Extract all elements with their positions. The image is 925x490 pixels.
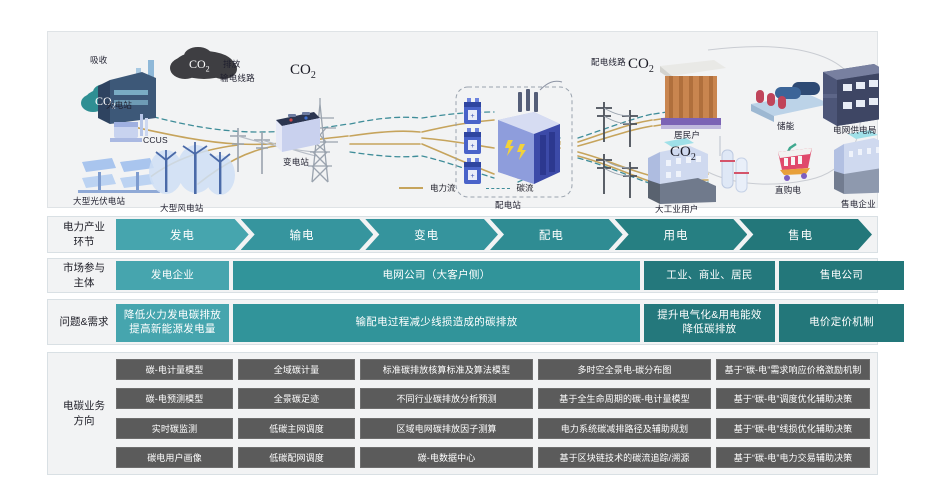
battery-units-icon: + + + — [464, 98, 481, 184]
grid-supply-bureau-label: 电网供电局 — [833, 124, 877, 136]
market-segment-label: 工业、商业、居民 — [666, 269, 752, 283]
problems-demands-row: 问题&需求 降低火力发电碳排放 提高新能源发电量输配电过程减少线损造成的碳排放提… — [47, 299, 878, 345]
business-cell-r4-c3[interactable]: 碳-电数据中心 — [360, 447, 533, 468]
stage-chevron-5[interactable]: 用电 — [615, 219, 748, 250]
energy-storage-label: 储能 — [777, 120, 794, 132]
residential-user-label: 居民户 — [674, 129, 700, 141]
problem-segment-label: 提升电气化&用电能效 降低碳排放 — [657, 309, 762, 336]
svg-text:+: + — [470, 143, 474, 150]
svg-text:+: + — [470, 113, 474, 120]
large-wind-plant-label: 大型风电站 — [160, 202, 204, 214]
business-cell-r2-c2[interactable]: 全景碳足迹 — [238, 388, 355, 409]
legend-carbon-flow-label: 碳流 — [517, 182, 534, 194]
co2-substation-text: CO2 — [290, 62, 316, 81]
problems-demands-label: 问题&需求 — [48, 315, 116, 329]
market-segment-1[interactable]: 发电企业 — [116, 261, 229, 290]
business-cell-r3-c5[interactable]: 基于“碳-电”线损优化辅助决策 — [716, 418, 870, 439]
business-cell-r2-c4[interactable]: 基于全生命周期的碳-电计量模型 — [538, 388, 711, 409]
substation-label: 变电站 — [283, 156, 309, 168]
business-cell-r4-c1[interactable]: 碳电用户画像 — [116, 447, 233, 468]
market-segment-label: 售电公司 — [820, 269, 863, 283]
test-tubes-icon — [720, 150, 749, 192]
business-cell-r4-c4[interactable]: 基于区块链技术的碳流追踪/溯源 — [538, 447, 711, 468]
residential-building-icon — [660, 60, 726, 129]
business-cell-r3-c3[interactable]: 区域电网碳排放因子测算 — [360, 418, 533, 439]
stage-chevron-1[interactable]: 发电 — [116, 219, 249, 250]
stage-chevron-label: 配电 — [539, 227, 564, 243]
stage-chevron-label: 用电 — [663, 227, 688, 243]
market-segment-label: 电网公司（大客户侧） — [383, 269, 491, 283]
diagram-legend: 电力流 碳流 — [399, 182, 534, 194]
co2-industrial-text: CO2 — [670, 144, 696, 163]
business-cell-r1-c1[interactable]: 碳-电计量模型 — [116, 359, 233, 380]
thermal-plant-label: 火电站 — [106, 99, 132, 111]
business-cell-r2-c1[interactable]: 碳-电预测模型 — [116, 388, 233, 409]
stage-chevron-label: 售电 — [788, 227, 813, 243]
business-matrix-row: 实时碳监测低碳主网调度区域电网碳排放因子测算电力系统碳减排路径及辅助规划基于“碳… — [116, 418, 870, 439]
substation-icon — [276, 112, 320, 152]
stage-chevron-3[interactable]: 变电 — [365, 219, 498, 250]
business-cell-r1-c5[interactable]: 基于“碳-电”需求响应价格激励机制 — [716, 359, 870, 380]
page-root: + + + — [0, 0, 925, 490]
market-segment-4[interactable]: 售电公司 — [779, 261, 904, 290]
stage-chevron-6[interactable]: 售电 — [739, 219, 872, 250]
industrial-user-label: 大工业用户 — [655, 203, 699, 215]
business-cell-r2-c3[interactable]: 不同行业碳排放分析预测 — [360, 388, 533, 409]
stage-chevron-label: 变电 — [414, 227, 439, 243]
business-cell-r3-c1[interactable]: 实时碳监测 — [116, 418, 233, 439]
distribution-poles-icon-2 — [596, 154, 638, 198]
grid-supply-bureau-icon — [823, 64, 879, 126]
transformer-icon — [498, 81, 562, 184]
market-participants-row: 市场参与 主体 发电企业电网公司（大客户侧）工业、商业、居民售电公司 — [47, 258, 878, 293]
problem-segment-2[interactable]: 输配电过程减少线损造成的碳排放 — [233, 304, 640, 342]
distribution-line-label: 配电线路 — [591, 56, 626, 68]
business-directions-label: 电碳业务 方向 — [48, 399, 116, 427]
direct-purchase-label: 直购电 — [775, 184, 801, 196]
stage-chevron-label: 发电 — [170, 227, 195, 243]
power-industry-stage-label: 电力产业 环节 — [48, 220, 116, 248]
market-segment-3[interactable]: 工业、商业、居民 — [644, 261, 775, 290]
power-flow-line-icon — [399, 187, 423, 189]
emission-label: 排放 — [223, 58, 240, 70]
energy-carbon-flow-diagram: + + + — [47, 31, 878, 208]
problem-segment-4[interactable]: 电价定价机制 — [779, 304, 904, 342]
stage-chevron-label: 输电 — [289, 227, 314, 243]
co2-residential-text: CO2 — [628, 56, 654, 75]
problem-segment-label: 电价定价机制 — [809, 316, 874, 330]
large-pv-plant-label: 大型光伏电站 — [73, 195, 125, 207]
energy-storage-icon — [751, 82, 830, 122]
business-matrix: 碳-电计量模型全域碳计量标准碳排放核算标准及算法模型多时空全景电-碳分布图基于“… — [116, 353, 877, 474]
distribution-station-label: 配电站 — [495, 199, 521, 211]
stage-chevron-4[interactable]: 配电 — [490, 219, 623, 250]
business-matrix-row: 碳电用户画像低碳配网调度碳-电数据中心基于区块链技术的碳流追踪/溯源基于“碳-电… — [116, 447, 870, 468]
shopping-cart-icon — [778, 144, 812, 181]
business-cell-r4-c5[interactable]: 基于“碳-电”电力交易辅助决策 — [716, 447, 870, 468]
business-cell-r3-c4[interactable]: 电力系统碳减排路径及辅助规划 — [538, 418, 711, 439]
business-directions-row: 电碳业务 方向 碳-电计量模型全域碳计量标准碳排放核算标准及算法模型多时空全景电… — [47, 352, 878, 475]
market-segment-track: 发电企业电网公司（大客户侧）工业、商业、居民售电公司 — [116, 259, 877, 292]
thermal-plant-icon — [98, 60, 156, 124]
wind-turbine-icon — [149, 142, 235, 195]
business-cell-r2-c5[interactable]: 基于“碳-电”调度优化辅助决策 — [716, 388, 870, 409]
solar-pv-icon — [78, 158, 160, 193]
market-participants-label: 市场参与 主体 — [48, 261, 116, 289]
business-cell-r3-c2[interactable]: 低碳主网调度 — [238, 418, 355, 439]
business-cell-r1-c2[interactable]: 全域碳计量 — [238, 359, 355, 380]
carbon-flow-line-icon — [486, 188, 510, 189]
market-segment-2[interactable]: 电网公司（大客户侧） — [233, 261, 640, 290]
problem-segment-3[interactable]: 提升电气化&用电能效 降低碳排放 — [644, 304, 775, 342]
problem-segment-1[interactable]: 降低火力发电碳排放 提高新能源发电量 — [116, 304, 229, 342]
business-cell-r1-c4[interactable]: 多时空全景电-碳分布图 — [538, 359, 711, 380]
business-cell-r4-c2[interactable]: 低碳配网调度 — [238, 447, 355, 468]
co2-emission-text: CO2 — [189, 57, 210, 73]
market-segment-label: 发电企业 — [151, 269, 194, 283]
svg-text:+: + — [470, 173, 474, 180]
business-matrix-row: 碳-电计量模型全域碳计量标准碳排放核算标准及算法模型多时空全景电-碳分布图基于“… — [116, 359, 870, 380]
stage-chevron-2[interactable]: 输电 — [241, 219, 374, 250]
problem-segment-track: 降低火力发电碳排放 提高新能源发电量输配电过程减少线损造成的碳排放提升电气化&用… — [116, 300, 877, 344]
business-matrix-row: 碳-电预测模型全景碳足迹不同行业碳排放分析预测基于全生命周期的碳-电计量模型基于… — [116, 388, 870, 409]
retail-enterprise-label: 售电企业 — [841, 198, 876, 210]
absorb-label: 吸收 — [90, 54, 107, 66]
ccus-label: CCUS — [143, 135, 168, 145]
power-industry-stage-row: 电力产业 环节 发电输电变电配电用电售电 — [47, 216, 878, 253]
transmission-line-label: 输电线路 — [220, 72, 255, 84]
stage-chevron-track: 发电输电变电配电用电售电 — [116, 219, 871, 250]
problem-segment-label: 降低火力发电碳排放 提高新能源发电量 — [124, 309, 221, 336]
legend-power-flow-label: 电力流 — [430, 182, 456, 194]
problem-segment-label: 输配电过程减少线损造成的碳排放 — [356, 316, 518, 330]
business-cell-r1-c3[interactable]: 标准碳排放核算标准及算法模型 — [360, 359, 533, 380]
